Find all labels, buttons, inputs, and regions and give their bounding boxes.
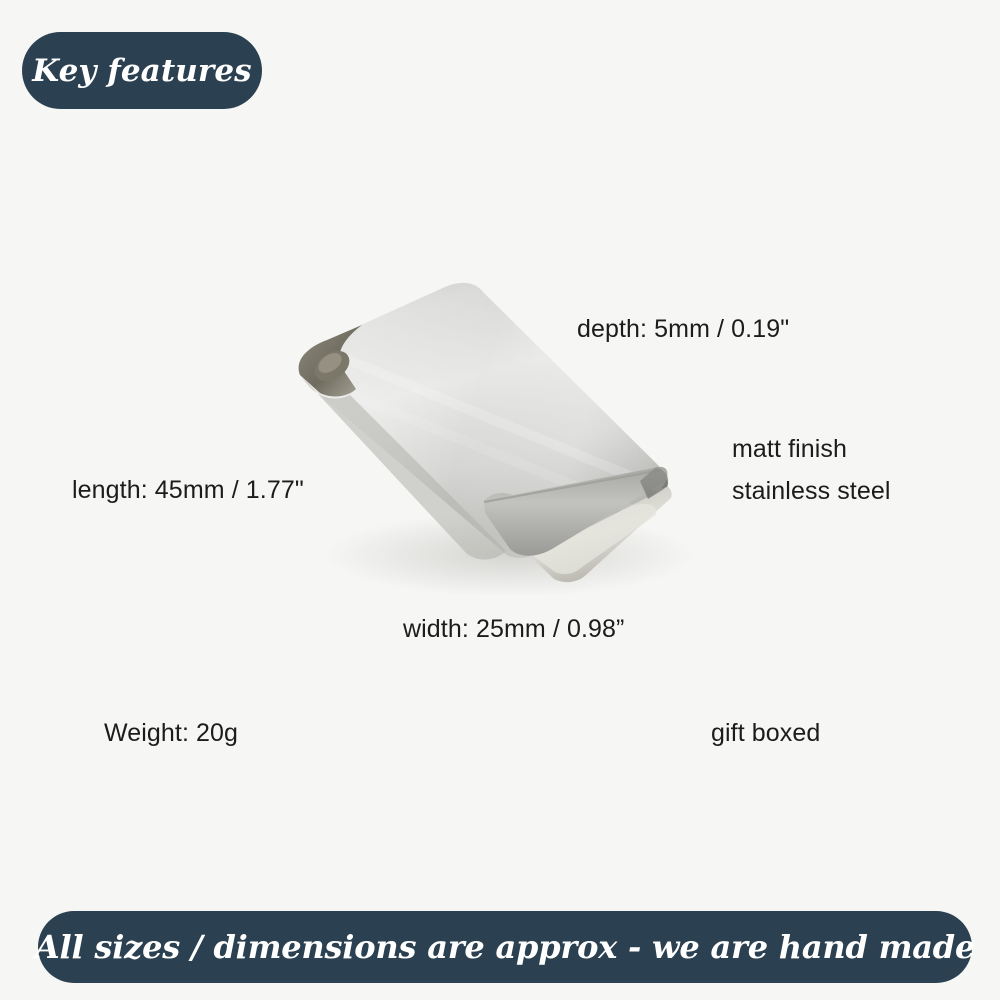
disclaimer-banner-label: All sizes / dimensions are approx - we a… <box>35 928 975 966</box>
key-features-badge-label: Key features <box>32 53 252 89</box>
annotation-width: width: 25mm / 0.98” <box>403 617 624 642</box>
money-clip-product-image <box>270 255 700 595</box>
annotation-depth: depth: 5mm / 0.19" <box>577 317 789 342</box>
annotation-weight: Weight: 20g <box>104 721 238 746</box>
disclaimer-banner: All sizes / dimensions are approx - we a… <box>38 911 972 983</box>
product-feature-page: Key features <box>0 0 1000 1000</box>
annotation-material: matt finish stainless steel <box>732 428 891 512</box>
key-features-badge: Key features <box>22 32 262 109</box>
annotation-gift-boxed: gift boxed <box>711 721 820 746</box>
annotation-material-line-2: stainless steel <box>732 470 891 512</box>
annotation-length: length: 45mm / 1.77" <box>72 478 304 503</box>
annotation-material-line-1: matt finish <box>732 428 891 470</box>
